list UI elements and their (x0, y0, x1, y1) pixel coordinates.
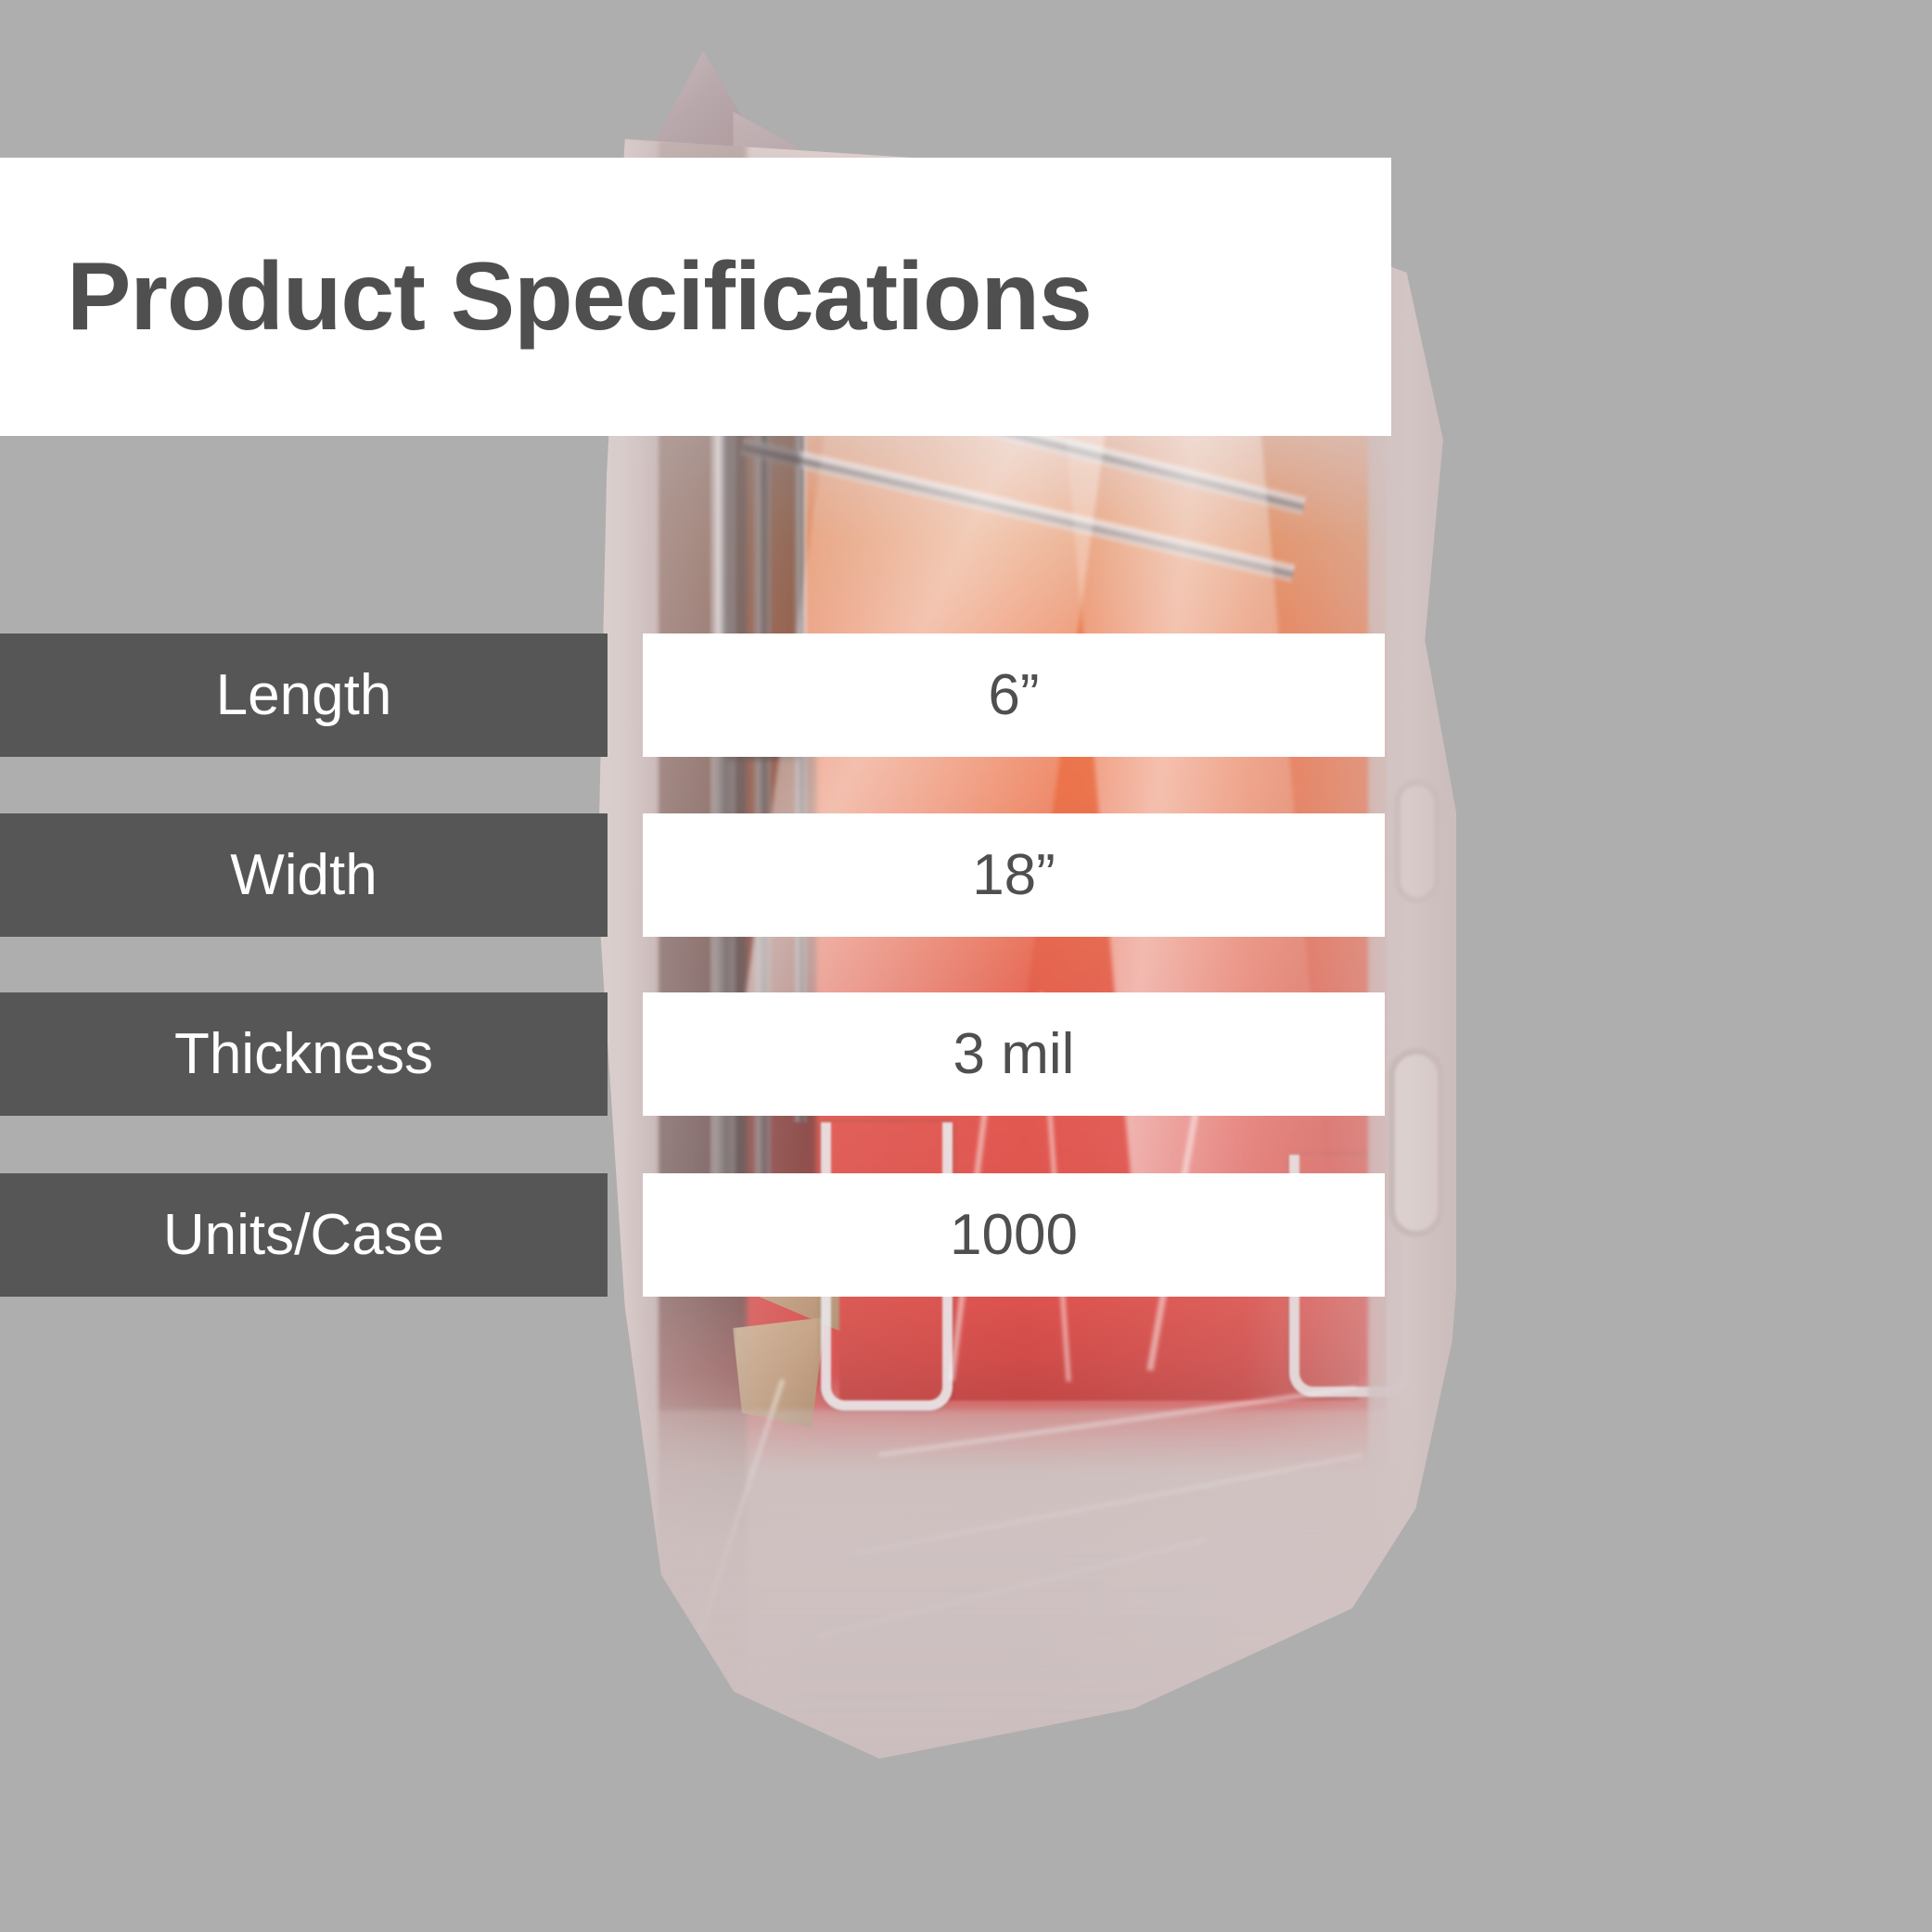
frame-shadow-blob-2 (714, 733, 816, 1234)
spec-value-text: 1000 (950, 1202, 1078, 1268)
bag-bottom-empty-section (594, 1410, 1456, 1809)
spec-label-width: Width (0, 813, 608, 937)
spec-value-text: 6” (988, 662, 1039, 728)
spec-value-length: 6” (643, 633, 1385, 757)
spec-label-text: Width (230, 842, 377, 908)
bag-die-cut-handle-upper (1394, 779, 1440, 903)
title-panel: Product Specifications (0, 158, 1391, 436)
spec-label-units-per-case: Units/Case (0, 1173, 608, 1297)
bag-die-cut-handle (1388, 1048, 1444, 1237)
spec-label-length: Length (0, 633, 608, 757)
infographic-canvas: Product Specifications Length 6” Width 1… (0, 0, 1932, 1932)
spec-label-text: Units/Case (163, 1202, 444, 1268)
spec-value-width: 18” (643, 813, 1385, 937)
spec-label-text: Length (216, 662, 392, 728)
spec-label-text: Thickness (174, 1021, 433, 1087)
spec-value-text: 18” (972, 842, 1056, 908)
page-title: Product Specifications (67, 242, 1092, 352)
spec-label-thickness: Thickness (0, 992, 608, 1116)
spec-value-units-per-case: 1000 (643, 1173, 1385, 1297)
spec-value-text: 3 mil (953, 1021, 1075, 1087)
spec-value-thickness: 3 mil (643, 992, 1385, 1116)
